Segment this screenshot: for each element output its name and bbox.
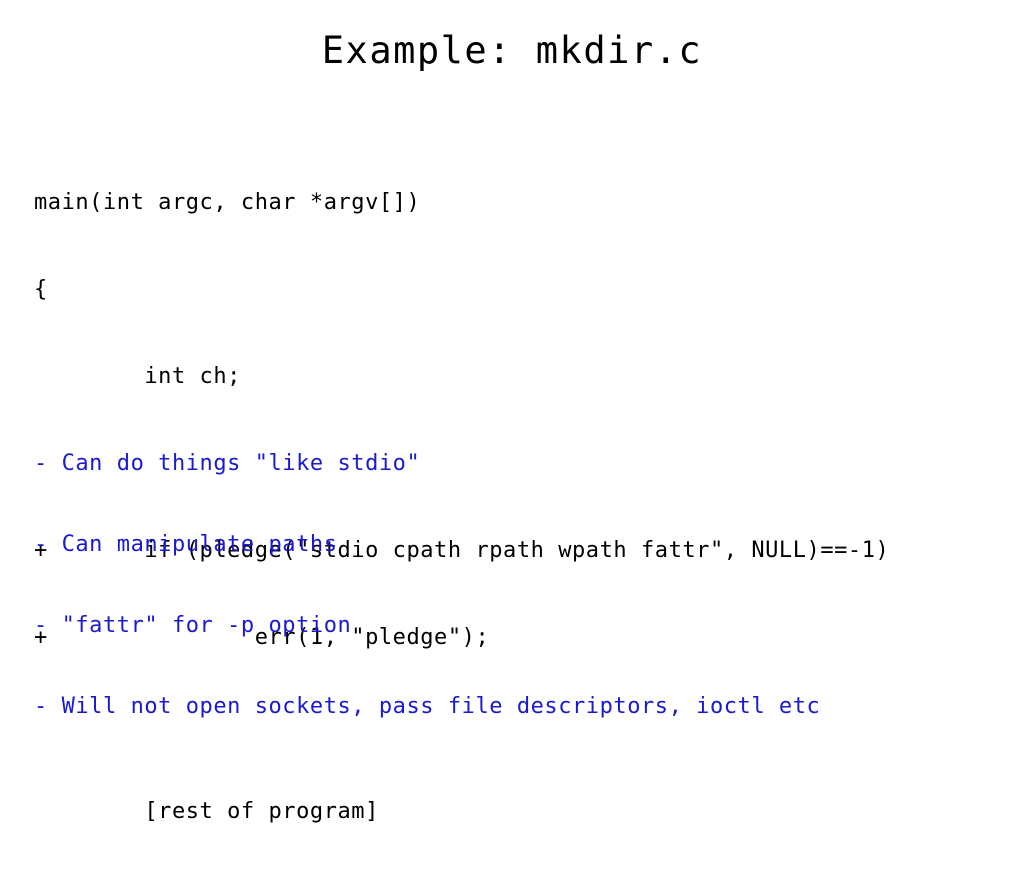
code-line: main(int argc, char *argv[]) xyxy=(34,188,994,217)
code-line: { xyxy=(34,275,994,304)
list-item: - Can manipulate paths xyxy=(34,531,994,558)
page-title: Example: mkdir.c xyxy=(0,28,1024,74)
list-item: - "fattr" for -p option xyxy=(34,612,994,639)
bullet-list: - Can do things "like stdio" - Can manip… xyxy=(34,396,994,774)
list-item: - Will not open sockets, pass file descr… xyxy=(34,693,994,720)
code-line-rest-of-program: [rest of program] xyxy=(34,797,994,826)
code-line: int ch; xyxy=(34,362,994,391)
list-item: - Can do things "like stdio" xyxy=(34,450,994,477)
presentation-slide: Example: mkdir.c main(int argc, char *ar… xyxy=(0,0,1024,768)
